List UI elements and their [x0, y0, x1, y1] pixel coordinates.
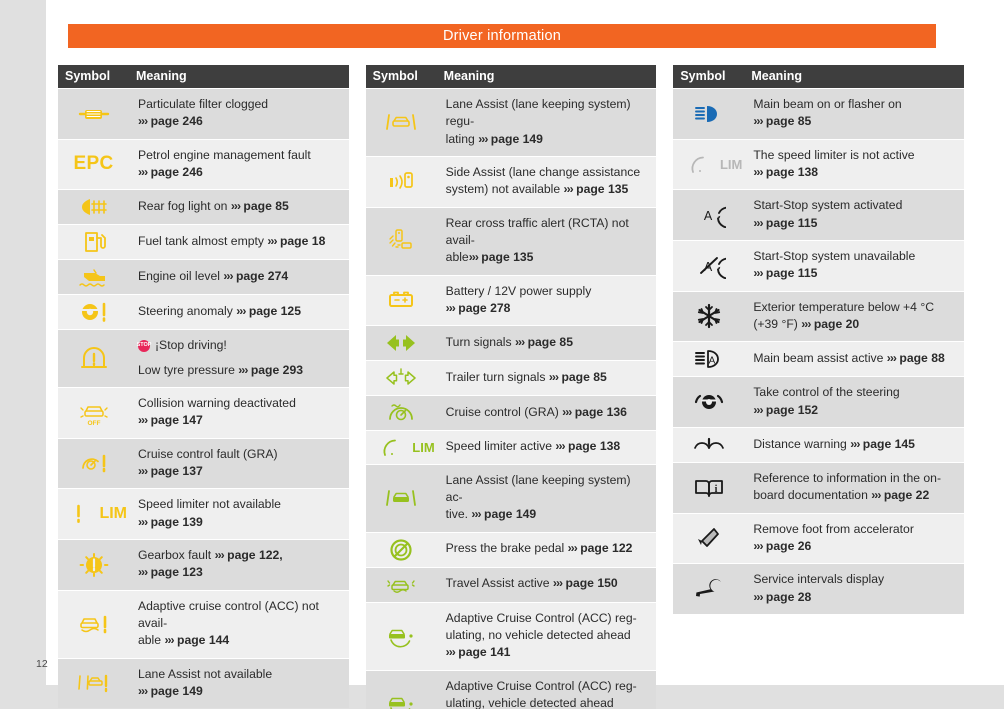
meaning-text: Cruise control (GRA) [446, 405, 562, 419]
page-reference: page 141 [458, 645, 510, 659]
page-ref-arrows-icon: ››› [446, 301, 455, 315]
meaning-line: Lane Assist (lane keeping system) ac- [446, 472, 649, 507]
meaning-cell: STOP¡Stop driving!Low tyre pressure ››› … [129, 330, 349, 387]
table-row: LIMSpeed limiter not available››› page 1… [58, 489, 349, 539]
page-reference: page 136 [575, 405, 627, 419]
tyre-pressure-icon [58, 330, 129, 387]
acc-not-available-icon [58, 591, 129, 658]
header-meaning: Meaning [744, 65, 964, 88]
stop-driving-line: STOP¡Stop driving! [138, 337, 341, 354]
acc-regulating-vehicle-icon [366, 671, 437, 709]
page-ref-arrows-icon: ››› [753, 266, 762, 280]
meaning-cell: Cruise control (GRA) ››› page 136 [437, 396, 657, 430]
meaning-text: Fuel tank almost empty [138, 234, 267, 248]
meaning-line: Start-Stop system unavailable [753, 248, 956, 265]
meaning-text: board documentation [753, 488, 871, 502]
meaning-line: Low tyre pressure ››› page 293 [138, 362, 341, 379]
page-reference: page 135 [481, 250, 533, 264]
page-reference: page 149 [484, 507, 536, 521]
meaning-line: Service intervals display [753, 571, 956, 588]
page-ref-arrows-icon: ››› [850, 437, 859, 451]
meaning-line: Gearbox fault ››› page 122, [138, 547, 341, 564]
steering-wheel-warning-icon [58, 295, 129, 329]
meaning-cell: Lane Assist not available››› page 149 [129, 659, 349, 709]
engine-oil-icon [58, 260, 129, 294]
meaning-line: Adaptive cruise control (ACC) not avail- [138, 598, 341, 633]
meaning-text: Main beam assist active [753, 351, 886, 365]
meaning-text: Cruise control fault (GRA) [138, 447, 278, 461]
meaning-line: ››› page 85 [753, 113, 956, 130]
meaning-text: ulating, no vehicle detected ahead [446, 628, 631, 642]
meaning-text: Side Assist (lane change assistance [446, 165, 640, 179]
page-ref-arrows-icon: ››› [231, 199, 240, 213]
meaning-cell: Take control of the steering››› page 152 [744, 377, 964, 427]
meaning-line: board documentation ››› page 22 [753, 487, 956, 504]
page-ref-arrows-icon: ››› [478, 132, 487, 146]
meaning-text: Distance warning [753, 437, 850, 451]
page-ref-arrows-icon: ››› [223, 269, 232, 283]
page-ref-arrows-icon: ››› [515, 335, 524, 349]
meaning-cell: Particulate filter clogged››› page 246 [129, 89, 349, 139]
page-ref-arrows-icon: ››› [138, 114, 147, 128]
table-row: Take control of the steering››› page 152 [673, 377, 964, 427]
table-body-1: Particulate filter clogged››› page 246EP… [58, 89, 349, 708]
table-row: LIMThe speed limiter is not active››› pa… [673, 140, 964, 190]
meaning-cell: Rear cross traffic alert (RCTA) not avai… [437, 208, 657, 275]
page-reference: page 88 [899, 351, 944, 365]
svg-text:i: i [714, 484, 717, 495]
meaning-line: Adaptive Cruise Control (ACC) reg- [446, 610, 649, 627]
meaning-text: Exterior temperature below +4 °C [753, 300, 934, 314]
onboard-documentation-icon: i [673, 463, 744, 513]
meaning-line: ››› page 149 [138, 683, 341, 700]
symbol-table-column-1: Symbol Meaning Particulate filter clogge… [58, 64, 349, 709]
meaning-line: Take control of the steering [753, 384, 956, 401]
meaning-cell: Start-Stop system unavailable››› page 11… [744, 241, 964, 291]
meaning-text: Gearbox fault [138, 548, 215, 562]
meaning-line: Remove foot from accelerator [753, 521, 956, 538]
meaning-cell: Remove foot from accelerator››› page 26 [744, 514, 964, 564]
meaning-text: Adaptive cruise control (ACC) not avail- [138, 599, 319, 630]
meaning-text: The speed limiter is not active [753, 148, 914, 162]
meaning-line: ulating, vehicle detected ahead [446, 695, 649, 709]
turn-signals-icon [366, 326, 437, 360]
remove-foot-accelerator-icon [673, 514, 744, 564]
meaning-cell: Lane Assist (lane keeping system) ac-tiv… [437, 465, 657, 532]
table-row: Battery / 12V power supply››› page 278 [366, 276, 657, 326]
meaning-text: Service intervals display [753, 572, 884, 586]
meaning-cell: Rear fog light on ››› page 85 [129, 190, 349, 224]
meaning-cell: Start-Stop system activated››› page 115 [744, 190, 964, 240]
page-ref-arrows-icon: ››› [753, 114, 762, 128]
meaning-text: tive. [446, 507, 472, 521]
table-row: Cruise control fault (GRA)››› page 137 [58, 439, 349, 489]
speed-limiter-fault-icon: LIM [58, 489, 129, 539]
table-row: Engine oil level ››› page 274 [58, 260, 349, 294]
meaning-cell: Speed limiter active ››› page 138 [437, 431, 657, 463]
meaning-line: Engine oil level ››› page 274 [138, 268, 341, 285]
table-row: Press the brake pedal ››› page 122 [366, 533, 657, 567]
table-body-3: Main beam on or flasher on››› page 85LIM… [673, 89, 964, 614]
cruise-control-icon [366, 396, 437, 430]
page-ref-arrows-icon: ››› [753, 539, 762, 553]
page-ref-arrows-icon: ››› [549, 370, 558, 384]
page-reference: page 20 [814, 317, 859, 331]
meaning-cell: Service intervals display››› page 28 [744, 564, 964, 614]
meaning-text: Lane Assist (lane keeping system) regu- [446, 97, 631, 128]
meaning-line: Adaptive Cruise Control (ACC) reg- [446, 678, 649, 695]
page-reference: page 139 [151, 515, 203, 529]
table-row: AStart-Stop system activated››› page 115 [673, 190, 964, 240]
table-row: Side Assist (lane change assistancesyste… [366, 157, 657, 207]
meaning-cell: Fuel tank almost empty ››› page 18 [129, 225, 349, 259]
svg-text:OFF: OFF [87, 420, 100, 426]
symbol-table-2: Symbol Meaning Lane Assist (lane keeping… [366, 64, 657, 709]
meaning-cell: Adaptive Cruise Control (ACC) reg-ulatin… [437, 603, 657, 670]
table-row: Trailer turn signals ››› page 85 [366, 361, 657, 395]
travel-assist-active-icon [366, 568, 437, 602]
take-control-steering-icon [673, 377, 744, 427]
meaning-line: Side Assist (lane change assistance [446, 164, 649, 181]
table-row: Adaptive Cruise Control (ACC) reg-ulatin… [366, 671, 657, 709]
meaning-cell: Speed limiter not available››› page 139 [129, 489, 349, 539]
meaning-cell: Gearbox fault ››› page 122,››› page 123 [129, 540, 349, 590]
symbol-table-column-2: Symbol Meaning Lane Assist (lane keeping… [366, 64, 657, 709]
meaning-line: ulating, no vehicle detected ahead [446, 627, 649, 644]
page-reference: page 28 [766, 590, 811, 604]
meaning-line: ››› page 26 [753, 538, 956, 555]
press-brake-pedal-icon [366, 533, 437, 567]
meaning-cell: Engine oil level ››› page 274 [129, 260, 349, 294]
meaning-line: Main beam on or flasher on [753, 96, 956, 113]
meaning-line: ››› page 115 [753, 265, 956, 282]
table-row: Lane Assist (lane keeping system) regu-l… [366, 89, 657, 156]
meaning-cell: Steering anomaly ››› page 125 [129, 295, 349, 329]
page-reference: page 137 [151, 464, 203, 478]
meaning-cell: Main beam on or flasher on››› page 85 [744, 89, 964, 139]
meaning-cell: Cruise control fault (GRA)››› page 137 [129, 439, 349, 489]
meaning-cell: Press the brake pedal ››› page 122 [437, 533, 657, 567]
meaning-text: ulating, vehicle detected ahead [446, 696, 614, 709]
lane-assist-not-available-icon [58, 659, 129, 709]
table-row: Main beam on or flasher on››› page 85 [673, 89, 964, 139]
table-row: Lane Assist (lane keeping system) ac-tiv… [366, 465, 657, 532]
table-header-row: Symbol Meaning [58, 65, 349, 88]
header-meaning: Meaning [437, 65, 657, 88]
page-ref-arrows-icon: ››› [801, 317, 810, 331]
page-reference: page 125 [249, 304, 301, 318]
meaning-line: ››› page 123 [138, 564, 341, 581]
table-row: LIMSpeed limiter active ››› page 138 [366, 431, 657, 463]
page-reference: page 85 [528, 335, 573, 349]
lane-assist-regulating-icon [366, 89, 437, 156]
meaning-line: Rear fog light on ››› page 85 [138, 198, 341, 215]
page-reference: page 147 [151, 413, 203, 427]
meaning-line: Rear cross traffic alert (RCTA) not avai… [446, 215, 649, 250]
main-beam-assist-icon: A [673, 342, 744, 376]
meaning-text: system) not available [446, 182, 564, 196]
page-ref-arrows-icon: ››› [887, 351, 896, 365]
lane-assist-active-icon [366, 465, 437, 532]
main-beam-icon [673, 89, 744, 139]
meaning-text: Start-Stop system unavailable [753, 249, 915, 263]
svg-text:A: A [704, 209, 713, 223]
table-row: Adaptive Cruise Control (ACC) reg-ulatin… [366, 603, 657, 670]
service-wrench-icon [673, 564, 744, 614]
table-row: Turn signals ››› page 85 [366, 326, 657, 360]
meaning-text: Reference to information in the on- [753, 471, 941, 485]
page-ref-arrows-icon: ››› [138, 165, 147, 179]
gearbox-fault-icon [58, 540, 129, 590]
meaning-line: Steering anomaly ››› page 125 [138, 303, 341, 320]
speed-limiter-inactive-icon: LIM [673, 140, 744, 190]
page-reference: page 274 [236, 269, 288, 283]
meaning-text: Turn signals [446, 335, 515, 349]
meaning-line: ››› page 139 [138, 514, 341, 531]
meaning-text: Rear cross traffic alert (RCTA) not avai… [446, 216, 629, 247]
meaning-line: Reference to information in the on- [753, 470, 956, 487]
page-ref-arrows-icon: ››› [753, 403, 762, 417]
meaning-text: Collision warning deactivated [138, 396, 296, 410]
symbol-table-column-3: Symbol Meaning Main beam on or flasher o… [673, 64, 964, 709]
table-row: Gearbox fault ››› page 122,››› page 123 [58, 540, 349, 590]
cruise-control-fault-icon [58, 439, 129, 489]
collision-warning-off-icon: OFF [58, 388, 129, 438]
meaning-line: ››› page 278 [446, 300, 649, 317]
meaning-cell: Lane Assist (lane keeping system) regu-l… [437, 89, 657, 156]
table-header-row: Symbol Meaning [366, 65, 657, 88]
page-reference: page 138 [568, 439, 620, 453]
trailer-turn-signals-icon [366, 361, 437, 395]
meaning-cell: Exterior temperature below +4 °C(+39 °F)… [744, 292, 964, 342]
header-symbol: Symbol [58, 65, 129, 88]
table-header-row: Symbol Meaning [673, 65, 964, 88]
table-row: Fuel tank almost empty ››› page 18 [58, 225, 349, 259]
table-row: STOP¡Stop driving!Low tyre pressure ››› … [58, 330, 349, 387]
page-ref-arrows-icon: ››› [469, 250, 478, 264]
page-reference: page 246 [151, 165, 203, 179]
table-row: OFFCollision warning deactivated››› page… [58, 388, 349, 438]
battery-icon [366, 276, 437, 326]
meaning-cell: Adaptive Cruise Control (ACC) reg-ulatin… [437, 671, 657, 709]
page-ref-arrows-icon: ››› [267, 234, 276, 248]
meaning-text: Speed limiter not available [138, 497, 281, 511]
meaning-text: Adaptive Cruise Control (ACC) reg- [446, 679, 637, 693]
meaning-line: ››› page 28 [753, 589, 956, 606]
meaning-cell: Main beam assist active ››› page 88 [744, 342, 964, 376]
stop-driving-text: ¡Stop driving! [155, 337, 227, 354]
meaning-line: Speed limiter active ››› page 138 [446, 438, 649, 455]
meaning-cell: Petrol engine management fault››› page 2… [129, 140, 349, 190]
page-reference: page 246 [151, 114, 203, 128]
page-ref-arrows-icon: ››› [238, 363, 247, 377]
meaning-line: Cruise control fault (GRA) [138, 446, 341, 463]
symbol-table-1: Symbol Meaning Particulate filter clogge… [58, 64, 349, 709]
page-reference: page 149 [151, 684, 203, 698]
page-ref-arrows-icon: ››› [138, 565, 147, 579]
meaning-line: ››› page 147 [138, 412, 341, 429]
page-reference: page 144 [177, 633, 229, 647]
page-reference: page 145 [863, 437, 915, 451]
header-meaning: Meaning [129, 65, 349, 88]
fuel-tank-icon [58, 225, 129, 259]
page-ref-arrows-icon: ››› [753, 165, 762, 179]
table-row: Cruise control (GRA) ››› page 136 [366, 396, 657, 430]
meaning-line: Distance warning ››› page 145 [753, 436, 956, 453]
distance-warning-icon [673, 428, 744, 462]
page-ref-arrows-icon: ››› [471, 507, 480, 521]
page-title-bar: Driver information [68, 24, 936, 48]
meaning-cell: Collision warning deactivated››› page 14… [129, 388, 349, 438]
page-reference: page 122, [227, 548, 283, 562]
page-reference: page 115 [766, 216, 818, 230]
meaning-cell: Reference to information in the on-board… [744, 463, 964, 513]
meaning-text: Battery / 12V power supply [446, 284, 592, 298]
meaning-line: ››› page 137 [138, 463, 341, 480]
meaning-text: Take control of the steering [753, 385, 899, 399]
rear-cross-traffic-alert-icon [366, 208, 437, 275]
meaning-line: able››› page 135 [446, 249, 649, 266]
symbol-tables: Symbol Meaning Particulate filter clogge… [58, 64, 964, 709]
start-stop-active-icon: A [673, 190, 744, 240]
page-reference: page 123 [151, 565, 203, 579]
table-row: Steering anomaly ››› page 125 [58, 295, 349, 329]
table-row: iReference to information in the on-boar… [673, 463, 964, 513]
rear-fog-light-icon [58, 190, 129, 224]
meaning-text: Press the brake pedal [446, 541, 568, 555]
meaning-text: able [446, 250, 469, 264]
meaning-line: able ››› page 144 [138, 632, 341, 649]
meaning-line: Fuel tank almost empty ››› page 18 [138, 233, 341, 250]
meaning-line: Travel Assist active ››› page 150 [446, 575, 649, 592]
page-reference: page 278 [458, 301, 510, 315]
meaning-cell: Distance warning ››› page 145 [744, 428, 964, 462]
page-number: 12 [36, 658, 48, 670]
meaning-line: tive. ››› page 149 [446, 506, 649, 523]
page-reference: page 115 [766, 266, 818, 280]
meaning-line: ››› page 246 [138, 164, 341, 181]
header-symbol: Symbol [366, 65, 437, 88]
meaning-line: lating ››› page 149 [446, 131, 649, 148]
meaning-line: Particulate filter clogged [138, 96, 341, 113]
meaning-line: ››› page 246 [138, 113, 341, 130]
page-ref-arrows-icon: ››› [138, 413, 147, 427]
meaning-line: Press the brake pedal ››› page 122 [446, 540, 649, 557]
meaning-text: Trailer turn signals [446, 370, 549, 384]
epc-text-icon: EPC [58, 140, 129, 190]
meaning-text: Adaptive Cruise Control (ACC) reg- [446, 611, 637, 625]
meaning-line: ››› page 152 [753, 402, 956, 419]
meaning-text: (+39 °F) [753, 317, 801, 331]
table-body-2: Lane Assist (lane keeping system) regu-l… [366, 89, 657, 709]
meaning-text: Lane Assist not available [138, 667, 272, 681]
table-row: Lane Assist not available››› page 149 [58, 659, 349, 709]
snowflake-icon [673, 292, 744, 342]
table-row: Rear fog light on ››› page 85 [58, 190, 349, 224]
page-reference: page 138 [766, 165, 818, 179]
meaning-line: Cruise control (GRA) ››› page 136 [446, 404, 649, 421]
table-row: Adaptive cruise control (ACC) not avail-… [58, 591, 349, 658]
page-ref-arrows-icon: ››› [555, 439, 564, 453]
page-reference: page 22 [884, 488, 929, 502]
header-symbol: Symbol [673, 65, 744, 88]
meaning-text: Petrol engine management fault [138, 148, 311, 162]
meaning-line: ››› page 138 [753, 164, 956, 181]
page-reference: page 152 [766, 403, 818, 417]
meaning-line: Exterior temperature below +4 °C [753, 299, 956, 316]
page-ref-arrows-icon: ››› [164, 633, 173, 647]
table-row: Exterior temperature below +4 °C(+39 °F)… [673, 292, 964, 342]
meaning-line: (+39 °F) ››› page 20 [753, 316, 956, 333]
meaning-line: Lane Assist not available [138, 666, 341, 683]
manual-page: Driver information Symbol Meaning Partic… [0, 0, 1004, 709]
table-row: Service intervals display››› page 28 [673, 564, 964, 614]
table-row: EPCPetrol engine management fault››› pag… [58, 140, 349, 190]
speed-limiter-active-icon: LIM [366, 431, 437, 463]
page-ref-arrows-icon: ››› [138, 684, 147, 698]
page-reference: page 150 [566, 576, 618, 590]
page-reference: page 18 [280, 234, 325, 248]
page-title: Driver information [443, 28, 561, 44]
meaning-text: able [138, 633, 164, 647]
meaning-text: Travel Assist active [446, 576, 553, 590]
meaning-text: Steering anomaly [138, 304, 236, 318]
meaning-cell: The speed limiter is not active››› page … [744, 140, 964, 190]
stop-badge-icon: STOP [138, 340, 150, 352]
meaning-text: Low tyre pressure [138, 363, 238, 377]
meaning-line: Main beam assist active ››› page 88 [753, 350, 956, 367]
page-ref-arrows-icon: ››› [753, 590, 762, 604]
page-reference: page 85 [561, 370, 606, 384]
page-reference: page 149 [491, 132, 543, 146]
meaning-cell: Travel Assist active ››› page 150 [437, 568, 657, 602]
page-ref-arrows-icon: ››› [215, 548, 224, 562]
meaning-cell: Turn signals ››› page 85 [437, 326, 657, 360]
meaning-line: ››› page 141 [446, 644, 649, 661]
page-reference: page 85 [243, 199, 288, 213]
meaning-line: Turn signals ››› page 85 [446, 334, 649, 351]
table-row: Distance warning ››› page 145 [673, 428, 964, 462]
table-row: AMain beam assist active ››› page 88 [673, 342, 964, 376]
page-ref-arrows-icon: ››› [871, 488, 880, 502]
meaning-cell: Side Assist (lane change assistancesyste… [437, 157, 657, 207]
meaning-line: Lane Assist (lane keeping system) regu- [446, 96, 649, 131]
meaning-text: Remove foot from accelerator [753, 522, 914, 536]
page-ref-arrows-icon: ››› [562, 405, 571, 419]
meaning-line: Battery / 12V power supply [446, 283, 649, 300]
table-row: AStart-Stop system unavailable››› page 1… [673, 241, 964, 291]
meaning-cell: Battery / 12V power supply››› page 278 [437, 276, 657, 326]
meaning-text: Main beam on or flasher on [753, 97, 901, 111]
meaning-cell: Adaptive cruise control (ACC) not avail-… [129, 591, 349, 658]
start-stop-unavailable-icon: A [673, 241, 744, 291]
meaning-line: ››› page 115 [753, 215, 956, 232]
page-reference: page 26 [766, 539, 811, 553]
meaning-line: The speed limiter is not active [753, 147, 956, 164]
meaning-line: Start-Stop system activated [753, 197, 956, 214]
table-row: Remove foot from accelerator››› page 26 [673, 514, 964, 564]
page-ref-arrows-icon: ››› [138, 515, 147, 529]
meaning-text: Rear fog light on [138, 199, 231, 213]
meaning-line: Petrol engine management fault [138, 147, 341, 164]
page-ref-arrows-icon: ››› [446, 645, 455, 659]
meaning-text: Lane Assist (lane keeping system) ac- [446, 473, 631, 504]
meaning-text: Engine oil level [138, 269, 223, 283]
page-reference: page 85 [766, 114, 811, 128]
page-reference: page 122 [580, 541, 632, 555]
page-reference: page 293 [251, 363, 303, 377]
svg-text:A: A [709, 356, 716, 367]
